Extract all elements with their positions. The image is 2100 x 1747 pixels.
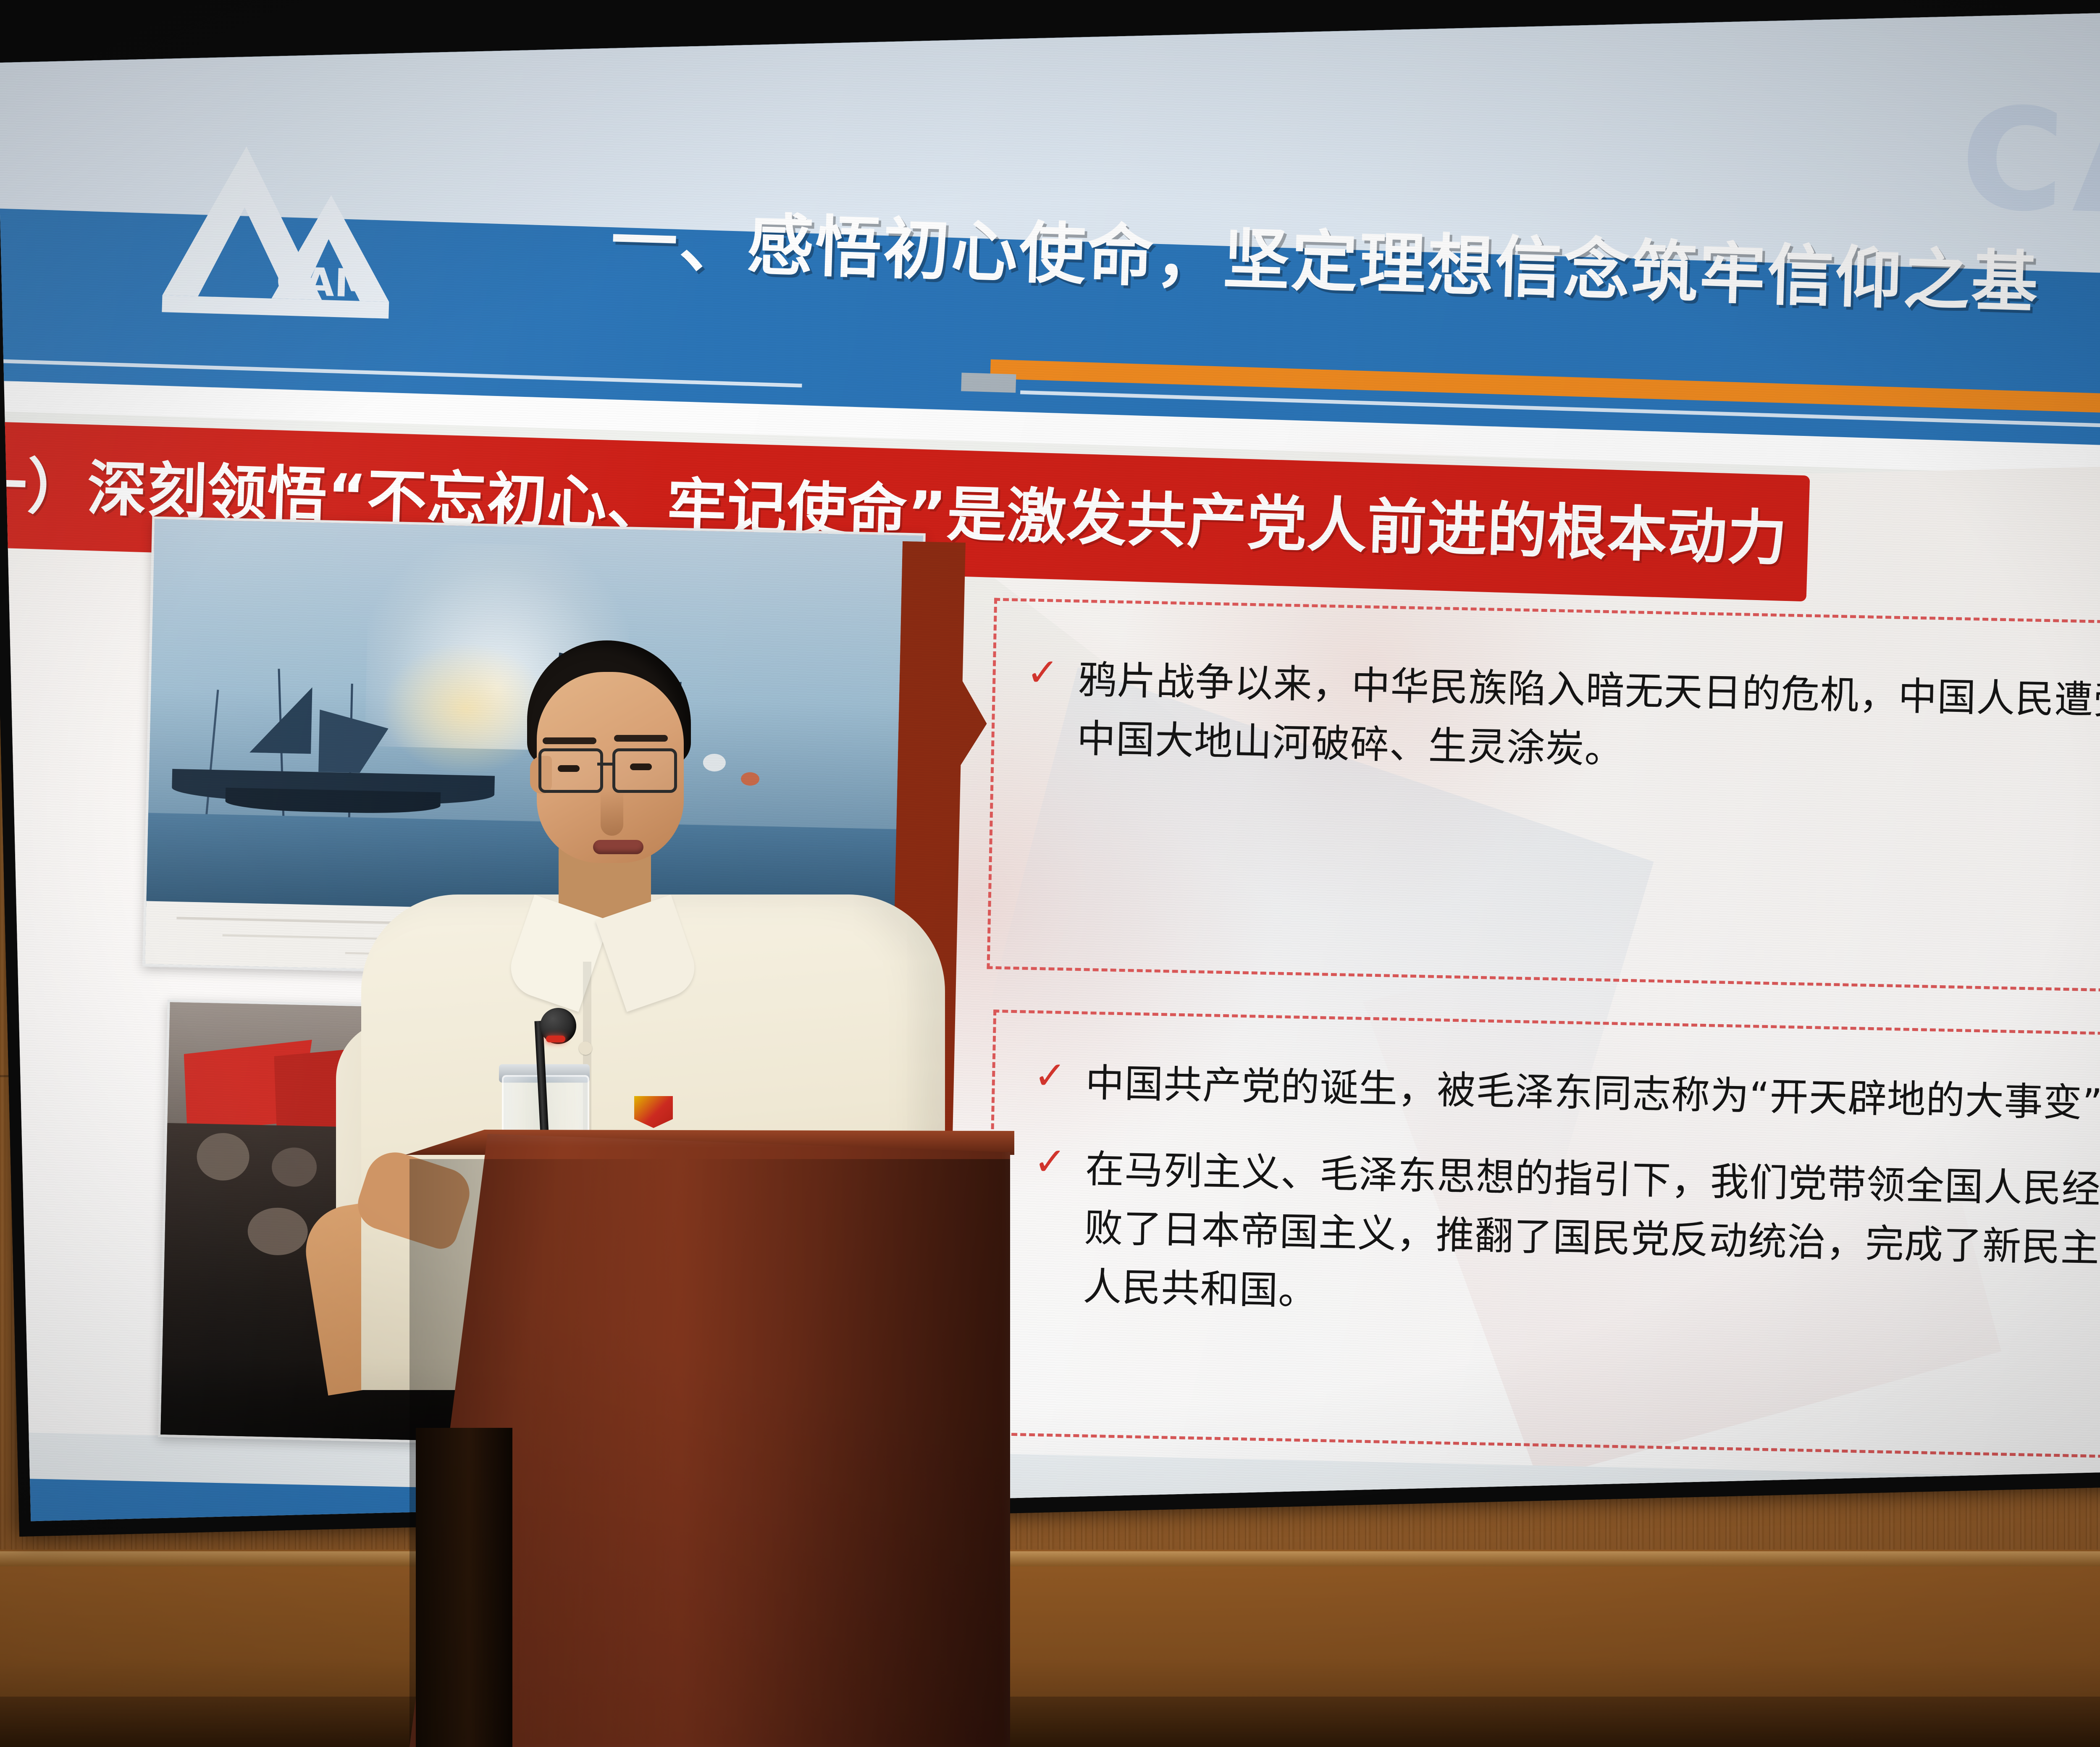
bullet-text: 在马列主义、毛泽东思想的指引下，我们党带领全国人民经过 28 年浴血奋战，打 败… [1082,1140,2100,1344]
presenter-eye [558,765,580,772]
wainscot-cap-rail [0,1551,2100,1566]
screenshot-root: CAM CAM 一、感悟初心使命，坚定理想信念筑牢信仰之基 [0,0,2100,1747]
cam-watermark: CAM [1959,78,2100,250]
accent-gray-strip [961,372,1016,393]
shirt-button [579,1041,592,1055]
check-icon: ✓ [1034,1142,1067,1182]
bullet-item: ✓ 在马列主义、毛泽东思想的指引下，我们党带领全国人民经过 28 年浴血奋战，打… [1031,1139,2100,1344]
check-icon: ✓ [1034,1056,1067,1096]
cam-mountain-logo: CAM [136,127,461,333]
presenter-nose [601,790,623,836]
presenter-eyebrow [543,737,596,744]
microphone-led-indicator [546,1036,565,1042]
floor [0,1697,2100,1747]
presenter-mouth [593,840,643,854]
presenter-eye [630,763,652,770]
svg-text:CAM: CAM [276,259,373,307]
check-icon: ✓ [1026,653,1059,693]
podium-side-shadow [416,1428,512,1747]
presenter-eyebrow [614,735,668,742]
